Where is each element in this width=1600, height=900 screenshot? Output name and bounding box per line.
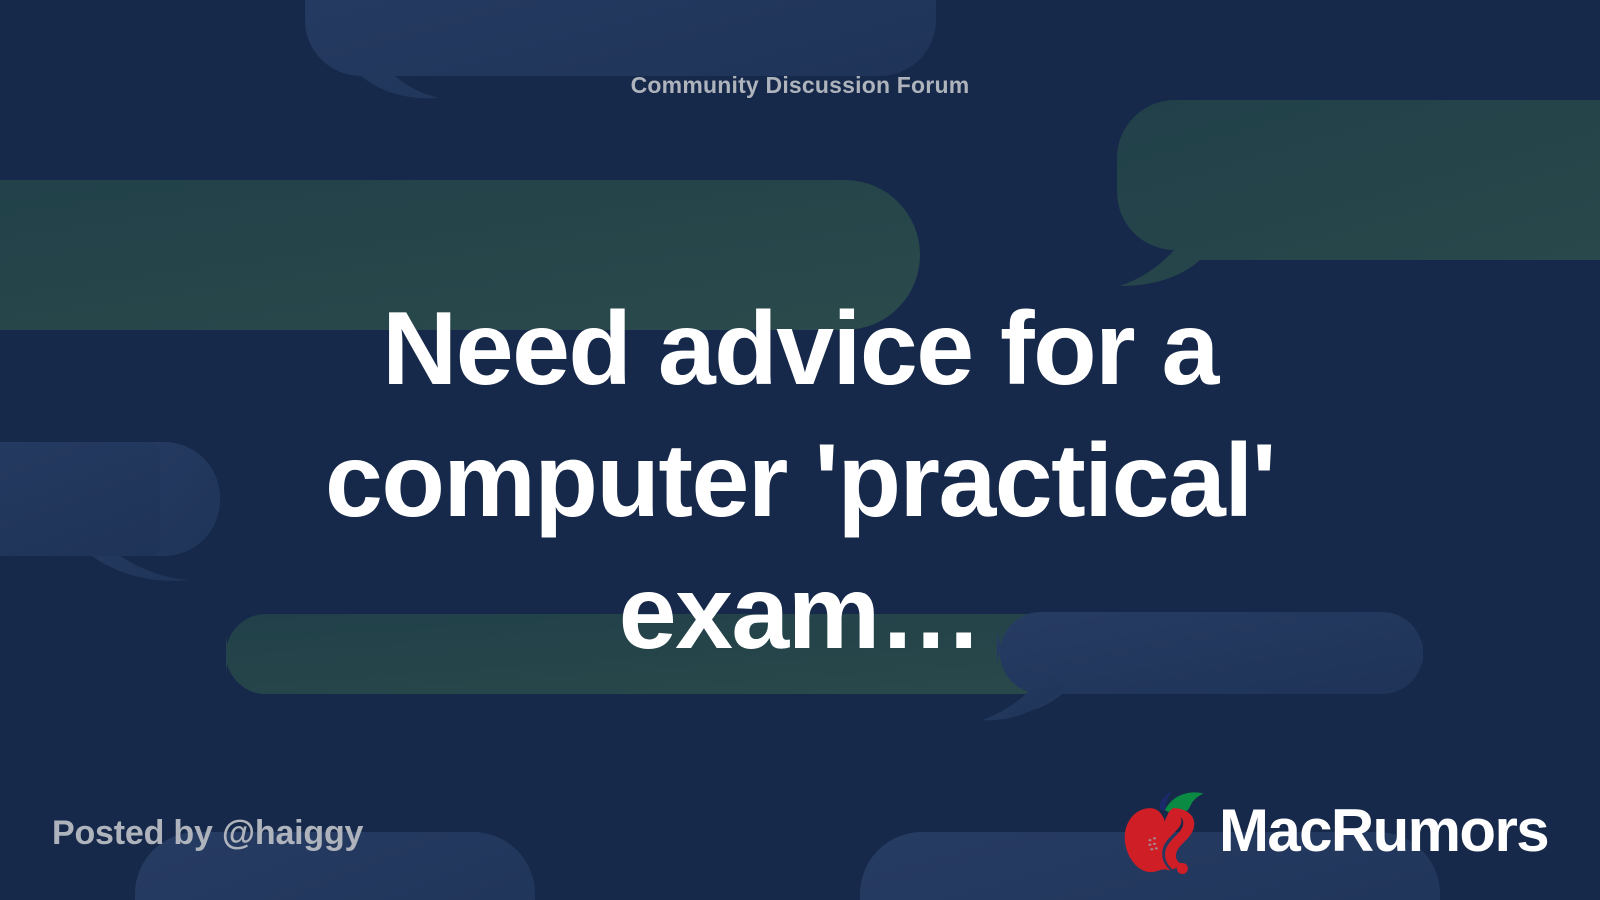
forum-eyebrow-label: Community Discussion Forum (631, 72, 970, 100)
post-title: Need advice for a computer 'practical' e… (250, 283, 1350, 679)
card-content: Community Discussion Forum Need advice f… (0, 0, 1600, 900)
macrumors-logo[interactable]: MacRumors (1119, 788, 1548, 874)
social-share-card: Community Discussion Forum Need advice f… (0, 0, 1600, 900)
card-footer: Posted by @haiggy (0, 730, 1600, 900)
posted-by-label: Posted by @haiggy (52, 814, 363, 853)
macrumors-wordmark: MacRumors (1219, 801, 1548, 861)
apple-question-mark-icon (1119, 788, 1211, 874)
